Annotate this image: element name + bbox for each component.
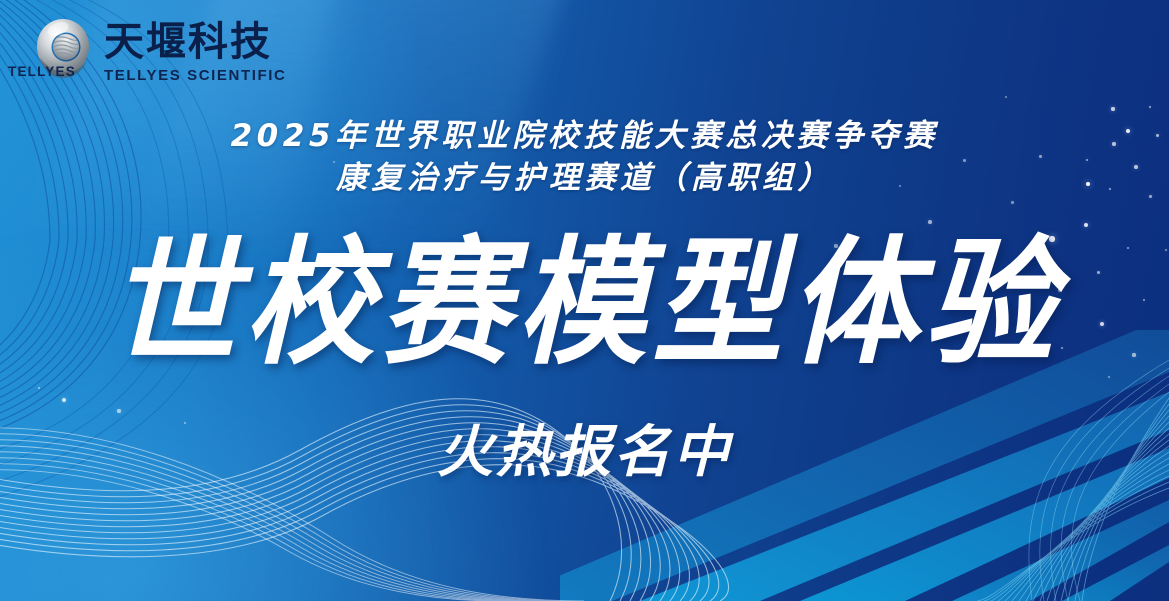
brand-mark-en: TELLYES — [8, 64, 76, 79]
particle-dot — [38, 387, 41, 390]
event-headline: 2025年世界职业院校技能大赛总决赛争夺赛 康复治疗与护理赛道（高职组） — [0, 116, 1169, 199]
cta-block: 火热报名中 — [0, 425, 1169, 481]
particle-dot — [1149, 106, 1152, 109]
particle-dot — [1084, 223, 1088, 227]
particle-dot — [117, 409, 120, 412]
company-name-cn: 天堰科技 — [104, 21, 272, 63]
particle-dot — [1108, 376, 1111, 379]
particle-dot — [62, 398, 66, 402]
particle-dot — [1111, 107, 1114, 110]
particle-dot — [1011, 201, 1014, 204]
particle-dot — [184, 422, 187, 425]
registration-status-text: 火热报名中 — [437, 425, 732, 481]
headline-line-1: 2025年世界职业院校技能大赛总决赛争夺赛 — [0, 116, 1169, 158]
promotional-banner: 天堰科技 TELLYES SCIENTIFIC TELLYES 2025年世界职… — [0, 0, 1169, 601]
main-title-block: 世校赛模型体验 — [0, 238, 1169, 368]
particle-dot — [1005, 96, 1008, 99]
headline-line-2: 康复治疗与护理赛道（高职组） — [0, 158, 1169, 200]
brand-logo-text: 天堰科技 TELLYES SCIENTIFIC — [104, 19, 286, 84]
page-title: 世校赛模型体验 — [108, 234, 1060, 372]
company-name-en: TELLYES SCIENTIFIC — [104, 67, 286, 84]
